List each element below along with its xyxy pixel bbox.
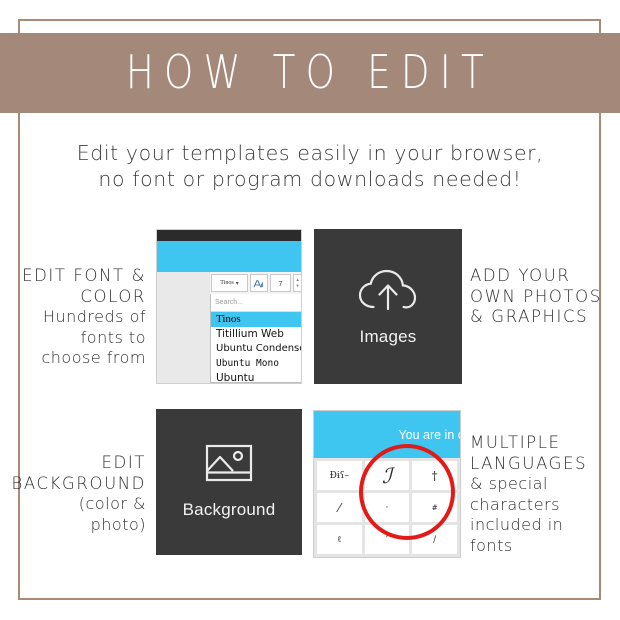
caption-edit-font-line-2: COLOR [16, 287, 146, 308]
caption-edit-background-line-3: (color & [8, 494, 146, 515]
caption-add-photos-line-3: & GRAPHICS [470, 307, 610, 328]
caption-edit-font-line-1: EDIT FONT & [16, 266, 146, 287]
caption-add-photos: ADD YOUR OWN PHOTOS & GRAPHICS [470, 266, 610, 328]
chars-cyan-banner: You are in c [314, 411, 460, 458]
caption-multiple-languages-line-5: included in [470, 515, 612, 536]
caption-edit-font: EDIT FONT & COLOR Hundreds of fonts to c… [16, 266, 146, 369]
font-editor-screenshot: Tinos ▾ 7 ▲ ▼ [156, 229, 302, 384]
images-upload-card[interactable]: Images [314, 229, 462, 384]
font-list-item-ubuntu-mono[interactable]: Ubuntu Mono [211, 356, 302, 371]
glyph-grid[interactable]: Đɨʕ– ℐ † ⁄ · # ℓ ’ ∕ [314, 458, 460, 557]
font-list-item-titillium-web[interactable]: Titillium Web [211, 327, 302, 342]
font-family-dropdown[interactable]: Tinos ▾ [211, 274, 248, 292]
font-list-item-ubuntu[interactable]: Ubuntu [211, 370, 302, 384]
page-title: HOW TO EDIT [126, 47, 494, 100]
stepper-up-icon[interactable]: ▲ [296, 278, 300, 282]
glyph-cell[interactable]: ℐ [365, 461, 410, 490]
caption-edit-background-line-4: photo) [8, 515, 146, 536]
caption-multiple-languages: MULTIPLE LANGUAGES & special characters … [470, 433, 612, 556]
caption-edit-font-line-4: fonts to [16, 328, 146, 349]
editor-cyan-banner [157, 241, 301, 272]
font-size-value: 7 [278, 279, 282, 288]
glyph-cell[interactable]: Đɨʕ– [317, 461, 362, 490]
editor-canvas-area: Tinos ▾ 7 ▲ ▼ [157, 272, 301, 383]
font-toolbar: Tinos ▾ 7 ▲ ▼ [210, 272, 302, 295]
glyph-cell[interactable]: ⁄ [317, 493, 362, 522]
subtitle-line-2: no font or program downloads needed! [30, 166, 590, 192]
subtitle-line-1: Edit your templates easily in your brows… [30, 140, 590, 166]
subtitle: Edit your templates easily in your brows… [30, 140, 590, 192]
glyph-cell[interactable]: # [412, 493, 457, 522]
background-card-label: Background [183, 500, 276, 520]
caption-multiple-languages-line-1: MULTIPLE [470, 433, 612, 454]
font-search-input[interactable]: Search... [211, 294, 302, 312]
font-list-item-tinos[interactable]: Tinos [211, 312, 302, 327]
caption-multiple-languages-line-3: & special [470, 474, 612, 495]
font-list-dropdown[interactable]: Search... Tinos Titillium Web Ubuntu Con… [210, 294, 302, 383]
editor-dark-toolbar [157, 230, 301, 241]
caption-multiple-languages-line-6: fonts [470, 536, 612, 557]
font-list-item-ubuntu-condensed[interactable]: Ubuntu Condensed [211, 341, 302, 356]
caption-edit-font-line-3: Hundreds of [16, 307, 146, 328]
header-band: HOW TO EDIT [0, 33, 620, 113]
how-to-edit-infographic: HOW TO EDIT Edit your templates easily i… [0, 0, 620, 620]
cloud-upload-icon [357, 267, 419, 313]
caption-multiple-languages-line-2: LANGUAGES [470, 454, 612, 475]
background-card[interactable]: Background [156, 409, 302, 555]
glyph-cell[interactable]: † [412, 461, 457, 490]
font-size-icon[interactable] [250, 274, 268, 292]
glyph-cell[interactable]: · [365, 493, 410, 522]
chars-banner-text: You are in c [398, 428, 461, 442]
font-family-value: Tinos [220, 280, 233, 286]
glyph-cell[interactable]: ℓ [317, 525, 362, 554]
glyph-cell[interactable]: ∕ [412, 525, 457, 554]
caption-edit-background-line-2: BACKGROUND [8, 474, 146, 495]
font-size-input[interactable]: 7 [270, 274, 292, 292]
chevron-down-icon: ▾ [236, 280, 239, 287]
caption-edit-background: EDIT BACKGROUND (color & photo) [8, 453, 146, 535]
images-card-label: Images [360, 327, 417, 347]
font-size-stepper[interactable]: ▲ ▼ [293, 274, 302, 292]
stepper-down-icon[interactable]: ▼ [296, 284, 300, 288]
special-characters-screenshot: You are in c Đɨʕ– ℐ † ⁄ · # ℓ ’ ∕ [313, 410, 461, 558]
caption-add-photos-line-1: ADD YOUR [470, 266, 610, 287]
caption-multiple-languages-line-4: characters [470, 495, 612, 516]
caption-edit-font-line-5: choose from [16, 348, 146, 369]
glyph-cell[interactable]: ’ [365, 525, 410, 554]
picture-icon [205, 444, 253, 486]
caption-edit-background-line-1: EDIT [8, 453, 146, 474]
caption-add-photos-line-2: OWN PHOTOS [470, 287, 610, 308]
